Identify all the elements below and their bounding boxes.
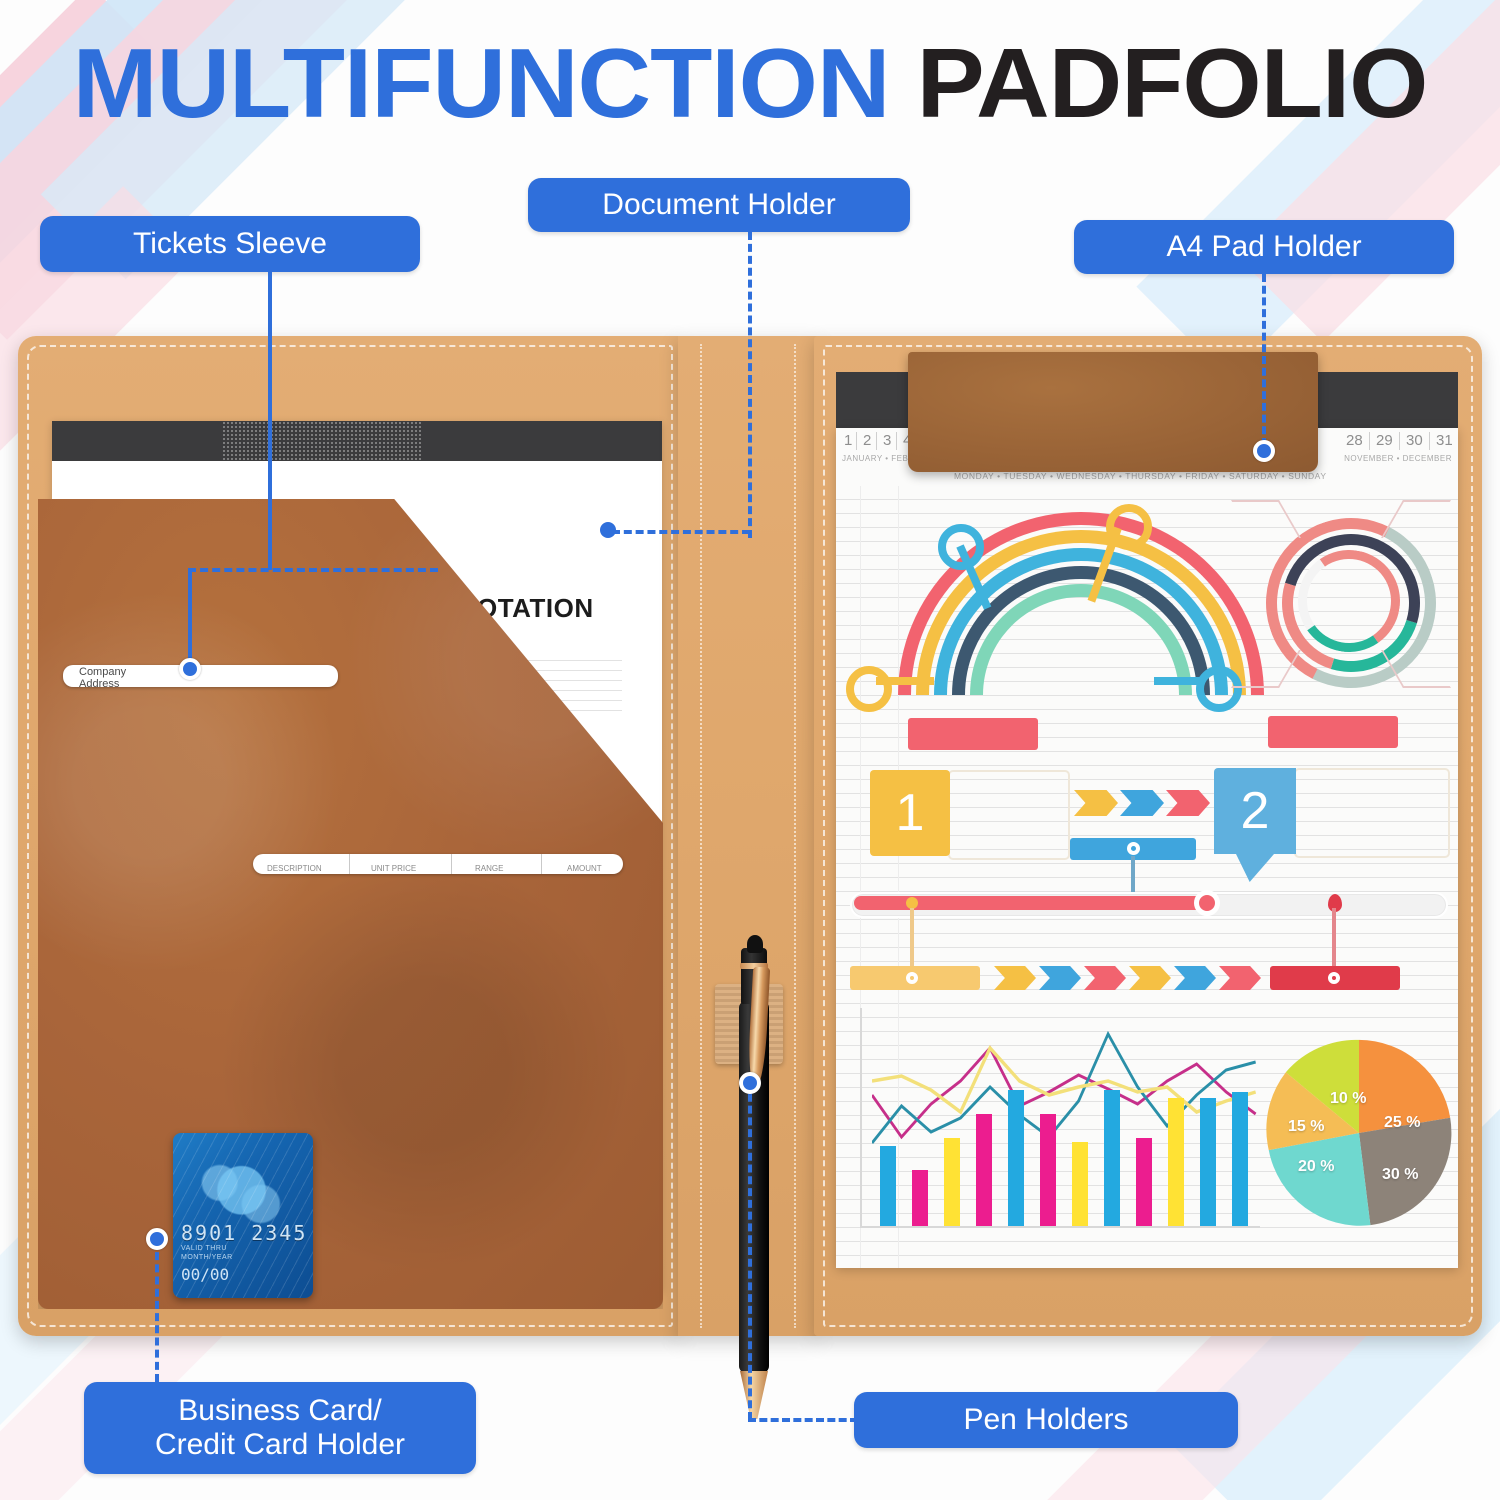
- calendar-day-28: 28: [1346, 432, 1363, 449]
- pie-label-20: 20 %: [1298, 1158, 1334, 1176]
- leader-a4-pad-holder-v: [1262, 274, 1266, 446]
- bar-5: [1008, 1090, 1024, 1226]
- ticket-col-header-1: DESCRIPTION: [267, 864, 322, 873]
- ticket-col-header-3: RANGE: [475, 864, 503, 873]
- calendar-sep-6: [1399, 432, 1400, 450]
- marker-yellow-stem: [910, 908, 914, 972]
- leader-tickets-sleeve-v2: [188, 568, 192, 666]
- calendar-day-30: 30: [1406, 432, 1423, 449]
- bar-3: [944, 1138, 960, 1226]
- callout-business-card[interactable]: Business Card/ Credit Card Holder: [84, 1382, 476, 1474]
- calendar-day-3: 3: [883, 432, 891, 449]
- pie-label-10: 10 %: [1330, 1090, 1366, 1108]
- marker-red-stem: [1332, 908, 1336, 970]
- a4-notepad: 1 2 3 4 28 29 30 31 JANUARY • FEBRUARY N…: [836, 428, 1458, 1268]
- credit-card[interactable]: 8901 2345 VALID THRU MONTH/YEAR 00/00: [173, 1133, 313, 1298]
- step-1-number: 1: [896, 783, 925, 843]
- bar-12: [1232, 1092, 1248, 1226]
- bar-9: [1136, 1138, 1152, 1226]
- callout-pen-holders-label: Pen Holders: [963, 1403, 1128, 1438]
- bar-chart-axis-y: [860, 1008, 862, 1228]
- ticket-col-div-3: [541, 854, 542, 874]
- ticket-col-div-2: [451, 854, 452, 874]
- ticket-sliver-table: DESCRIPTION UNIT PRICE RANGE AMOUNT: [253, 854, 623, 874]
- title-part-2: PADFOLIO: [917, 28, 1428, 138]
- credit-card-expiry: 00/00: [181, 1265, 229, 1284]
- spine-stitch-right: [794, 344, 796, 1328]
- leader-tickets-sleeve-v: [268, 272, 272, 570]
- calendar-day-1: 1: [844, 432, 852, 449]
- callout-business-card-label-2: Credit Card Holder: [155, 1428, 405, 1463]
- bar-2: [912, 1170, 928, 1226]
- callout-business-card-label-1: Business Card/: [178, 1394, 381, 1429]
- mini-bar-blue-pin: [1127, 842, 1140, 855]
- line-series-yellow: [872, 1048, 1256, 1112]
- arc-stick-left: [876, 677, 934, 685]
- calendar-months-right: NOVEMBER • DECEMBER: [1344, 454, 1452, 463]
- document-header-dots: [222, 421, 422, 461]
- arc-stick-right: [1154, 677, 1202, 685]
- bar-4: [976, 1114, 992, 1226]
- callout-tickets-sleeve-label: Tickets Sleeve: [133, 227, 327, 262]
- anchor-pen-holders: [739, 1072, 761, 1094]
- calendar-weekdays: MONDAY • TUESDAY • WEDNESDAY • THURSDAY …: [954, 471, 1327, 481]
- callout-a4-pad-holder-label: A4 Pad Holder: [1166, 230, 1361, 265]
- step-1-number-box: 1: [870, 770, 950, 856]
- calendar-sep-3: [896, 432, 897, 450]
- callout-tickets-sleeve[interactable]: Tickets Sleeve: [40, 216, 420, 272]
- calendar-day-2: 2: [863, 432, 871, 449]
- calendar-sep-2: [876, 432, 877, 450]
- progress-handle[interactable]: [1194, 890, 1220, 916]
- callout-document-holder-label: Document Holder: [602, 188, 835, 223]
- calendar-sep-7: [1429, 432, 1430, 450]
- leader-pen-holders-v: [748, 1082, 752, 1420]
- callout-document-holder[interactable]: Document Holder: [528, 178, 910, 232]
- callout-pen-holders[interactable]: Pen Holders: [854, 1392, 1238, 1448]
- calendar-day-31: 31: [1436, 432, 1453, 449]
- leader-document-holder-v: [748, 232, 752, 538]
- bar-7: [1072, 1142, 1088, 1226]
- anchor-a4-pad-holder: [1253, 440, 1275, 462]
- bar-chart-axis-x: [860, 1226, 1260, 1228]
- credit-card-number: 8901 2345: [181, 1221, 307, 1245]
- pie-label-15: 15 %: [1288, 1118, 1324, 1136]
- bar-8: [1104, 1090, 1120, 1226]
- lower-bar-yellow-pin: [906, 972, 918, 984]
- page-title: MULTIFUNCTION PADFOLIO: [0, 34, 1500, 132]
- step-2-bubble-outline: [1294, 768, 1450, 858]
- ticket-line-2: Address: [79, 678, 119, 687]
- ticket-line-1: Company: [79, 666, 126, 678]
- title-part-1: MULTIFUNCTION: [73, 28, 890, 138]
- leader-document-holder-h: [612, 530, 750, 534]
- flag-red-left: [908, 718, 1038, 750]
- step-1-bubble-outline: [948, 770, 1070, 860]
- pie-label-30: 30 %: [1382, 1166, 1418, 1184]
- leader-tickets-sleeve-h: [188, 568, 438, 572]
- anchor-business-card: [146, 1228, 168, 1250]
- spine-stitch-left: [700, 344, 702, 1328]
- bar-11: [1200, 1098, 1216, 1226]
- calendar-sep-1: [856, 432, 857, 450]
- credit-card-monthyear-label: MONTH/YEAR: [181, 1254, 233, 1261]
- anchor-tickets-sleeve: [179, 658, 201, 680]
- step-2-number-box: 2: [1214, 768, 1296, 854]
- bar-1: [880, 1146, 896, 1226]
- leader-business-card-v: [155, 1240, 159, 1382]
- ticket-col-header-2: UNIT PRICE: [371, 864, 416, 873]
- calendar-sep-5: [1369, 432, 1370, 450]
- lower-bar-red-pin: [1328, 972, 1340, 984]
- arc-knob-yellow-left: [846, 666, 892, 712]
- pen-click-knob[interactable]: [747, 935, 763, 953]
- leader-pen-holders-h: [748, 1418, 858, 1422]
- pie-label-25: 25 %: [1384, 1114, 1420, 1132]
- credit-card-valid-label: VALID THRU: [181, 1245, 227, 1252]
- step-2-number: 2: [1241, 781, 1270, 841]
- calendar-day-29: 29: [1376, 432, 1393, 449]
- ticket-col-header-4: AMOUNT: [567, 864, 602, 873]
- ticket-col-div-1: [349, 854, 350, 874]
- flag-red-right: [1268, 716, 1398, 748]
- anchor-document-holder: [600, 522, 616, 538]
- arc-knob-cyan-right: [1196, 666, 1242, 712]
- bar-10: [1168, 1098, 1184, 1226]
- bar-6: [1040, 1114, 1056, 1226]
- callout-a4-pad-holder[interactable]: A4 Pad Holder: [1074, 220, 1454, 274]
